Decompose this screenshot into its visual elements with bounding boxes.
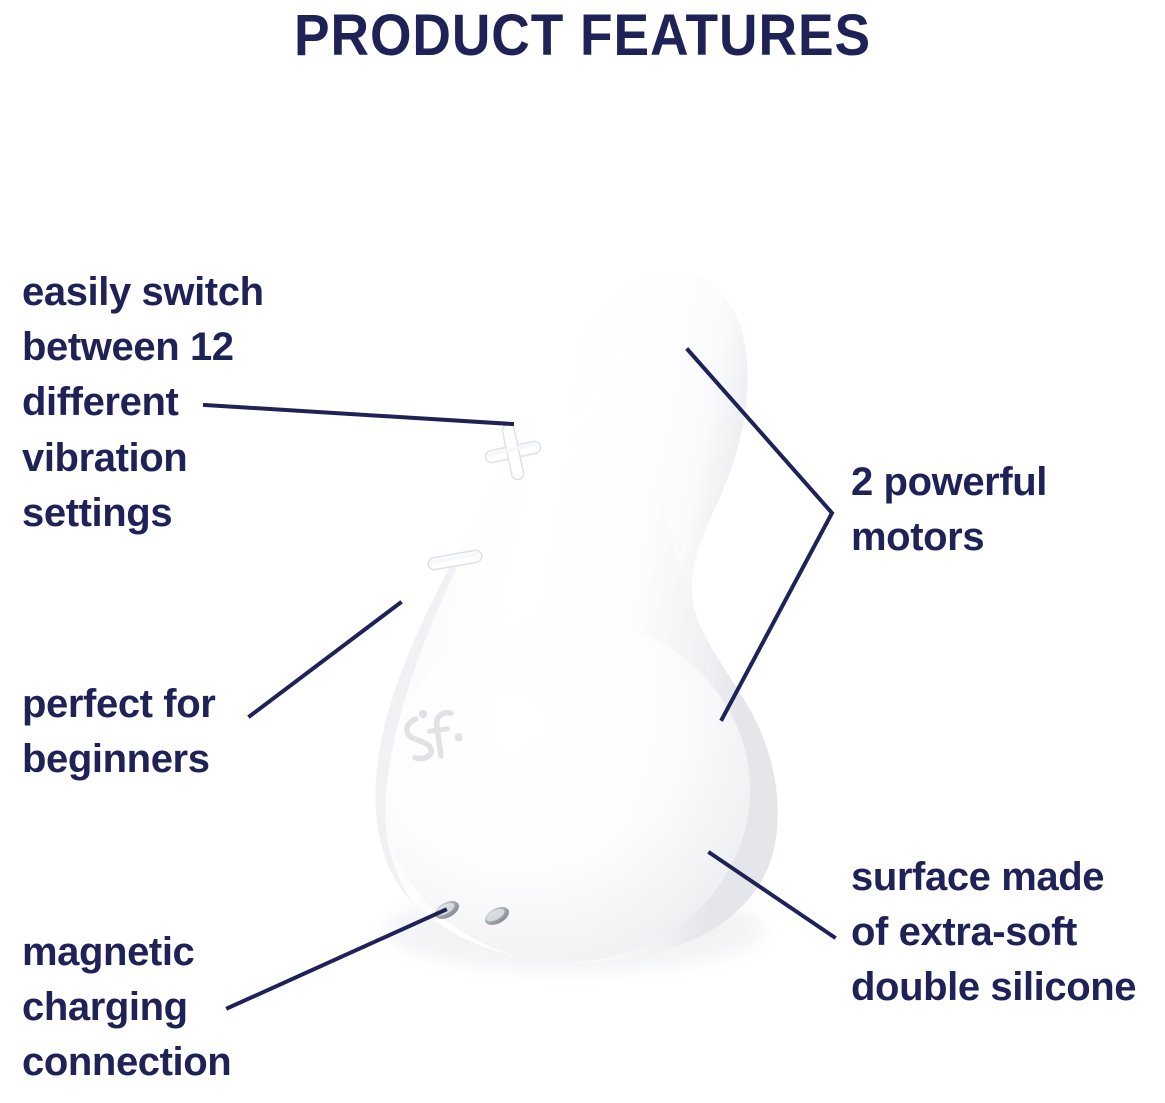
callout-vibration-settings: easily switch between 12 different vibra… xyxy=(22,265,322,541)
callout-magnetic-charging: magnetic charging connection xyxy=(22,925,302,1091)
callout-motors: 2 powerful motors xyxy=(851,455,1141,565)
callout-beginners: perfect for beginners xyxy=(22,677,292,787)
product-features-infographic: PRODUCT FEATURES xyxy=(0,0,1165,1103)
callout-silicone: surface made of extra-soft double silico… xyxy=(851,850,1151,1016)
